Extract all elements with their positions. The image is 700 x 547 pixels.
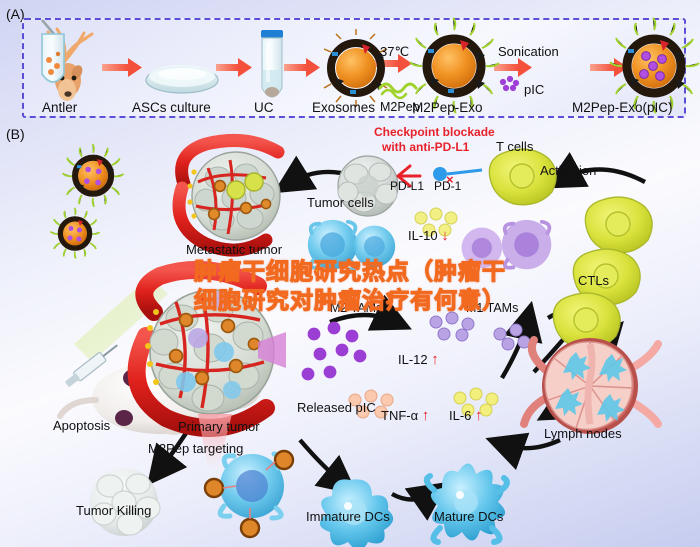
tnfa-cytokine: TNF-α ↑ (381, 408, 429, 423)
il10-label: IL-10 (408, 228, 438, 243)
step-label-m2pep-exo-pic: M2Pep-Exo(pIC) (572, 100, 673, 115)
il10-down-arrow-icon: ↓ (441, 227, 449, 244)
mature-dc-icon (427, 463, 507, 542)
pdl1-label: PD-L1 (390, 180, 424, 192)
il12-particles (430, 312, 474, 341)
panel-b-artwork: × (0, 122, 700, 547)
tumor-killing-icon (90, 468, 160, 536)
m1-tams-label: M1 TAMs (466, 302, 518, 315)
exosome-particle (51, 208, 100, 259)
checkpoint-blockade-label: Checkpoint blockade (374, 126, 495, 138)
il6-cytokine: IL-6 ↑ (449, 408, 483, 423)
step-label-uc: UC (254, 100, 274, 115)
primary-tumor-label: Primary tumor (178, 420, 260, 433)
released-pic-label: Released pIC (297, 401, 376, 414)
pd1-label: PD-1 (434, 180, 461, 192)
petri-dish-icon (146, 65, 218, 93)
il12-up-arrow-icon: ↑ (431, 351, 439, 368)
temperature-annotation: 37℃ (380, 44, 409, 60)
m2-tam-icon (354, 226, 396, 268)
step-label-m2pep-exo: M2Pep-Exo (412, 100, 483, 115)
ctls-label: CTLs (578, 274, 609, 287)
activation-label: Activation (540, 164, 596, 177)
il6-up-arrow-icon: ↑ (475, 407, 483, 424)
sonication-annotation: Sonication (498, 44, 559, 59)
pic-annotation: pIC (524, 82, 544, 97)
exosome-particle (63, 144, 124, 207)
il12-cytokine: IL-12 ↑ (398, 352, 439, 367)
step-label-exosomes: Exosomes (312, 100, 375, 115)
m2pep-exosome-icon (410, 18, 499, 113)
m1-tam-icon (502, 220, 551, 269)
pic-cluster-icon (500, 76, 519, 91)
step-label-antler: Antler (42, 100, 77, 115)
mature-dcs-label: Mature DCs (434, 510, 503, 523)
m2pep-peptide-icon (380, 84, 416, 98)
metastatic-tumor-icon (179, 140, 280, 250)
step-label-ascs-culture: ASCs culture (132, 100, 211, 115)
m1-tam-icon (462, 228, 503, 269)
lymph-nodes-label: Lymph nodes (544, 427, 622, 440)
il10-cytokine: IL-10 ↓ (408, 228, 449, 243)
tumor-killing-label: Tumor Killing (76, 504, 151, 517)
lymph-node-icon (524, 340, 658, 432)
tnfa-label: TNF-α (381, 408, 418, 423)
m2-tam-icon (308, 220, 357, 269)
il6-label: IL-6 (449, 408, 471, 423)
m2-tams-label: M2 TAMs (330, 302, 382, 315)
metastatic-tumor-label: Metastatic tumor (186, 243, 282, 256)
tumor-cells-label: Tumor cells (307, 196, 374, 209)
apoptosis-label: Apoptosis (53, 419, 110, 432)
sonication-tube-icon (42, 20, 64, 82)
immature-dcs-label: Immature DCs (306, 510, 390, 523)
il12-label: IL-12 (398, 352, 428, 367)
exosome-icon (324, 29, 387, 107)
centrifuge-tube-icon (261, 30, 283, 97)
t-cell-icon (585, 197, 652, 253)
released-pic-particles (302, 322, 367, 381)
t-cells-label: T cells (496, 140, 533, 153)
anti-pdl1-label: with anti-PD-L1 (382, 141, 469, 153)
m2pep-targeting-label: M2Pep targeting (148, 442, 243, 455)
m2pep-exosome-pic-icon (610, 18, 699, 113)
panel-a-container: 37℃ M2Pep Sonication pIC Antler ASCs cul… (22, 18, 686, 118)
tnfa-up-arrow-icon: ↑ (422, 407, 430, 424)
scientific-figure: (A) (0, 0, 700, 547)
